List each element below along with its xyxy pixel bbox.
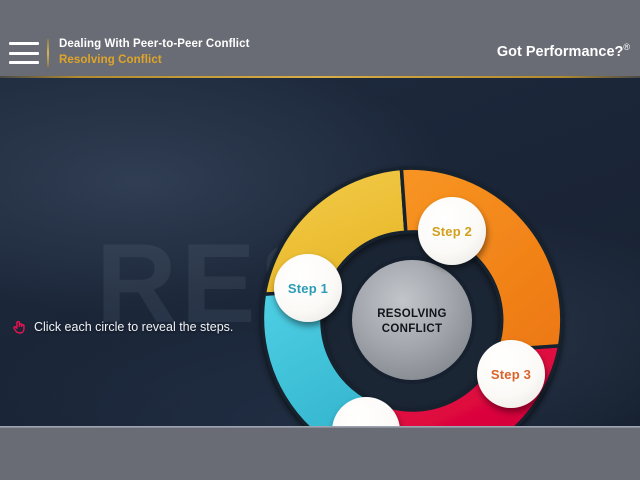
instruction-row: Click each circle to reveal the steps. <box>10 318 233 336</box>
resolving-conflict-diagram: RESOLVING CONFLICT Step 1 Step 2 Step 3 <box>252 160 572 426</box>
pointing-hand-icon <box>10 318 28 336</box>
hamburger-bar-2 <box>9 52 39 55</box>
header-bar: Dealing With Peer-to-Peer Conflict Resol… <box>0 0 640 78</box>
footer-bar <box>0 428 640 480</box>
center-label-line1: RESOLVING <box>377 308 447 320</box>
registered-trademark-icon: ® <box>623 42 630 52</box>
center-disc[interactable] <box>352 260 472 380</box>
title-block: Dealing With Peer-to-Peer Conflict Resol… <box>59 37 250 68</box>
slide-player: Dealing With Peer-to-Peer Conflict Resol… <box>0 0 640 480</box>
brand-text: Got Performance? <box>497 44 624 60</box>
step-2-label: Step 2 <box>432 224 472 239</box>
center-label-line2: CONFLICT <box>382 323 443 335</box>
hamburger-bar-1 <box>9 42 39 45</box>
header-divider <box>47 39 49 67</box>
brand-logo: Got Performance?® <box>497 42 630 60</box>
step-3-label: Step 3 <box>491 367 531 382</box>
hamburger-bar-3 <box>9 61 39 64</box>
step-1-label: Step 1 <box>288 281 328 296</box>
course-title: Dealing With Peer-to-Peer Conflict <box>59 37 250 52</box>
header-content: Dealing With Peer-to-Peer Conflict Resol… <box>0 30 640 78</box>
slide-canvas: RES Click each circle to reveal the step… <box>0 78 640 426</box>
hamburger-menu-icon[interactable] <box>9 42 39 64</box>
lesson-title: Resolving Conflict <box>59 53 250 68</box>
instruction-text: Click each circle to reveal the steps. <box>34 320 233 334</box>
